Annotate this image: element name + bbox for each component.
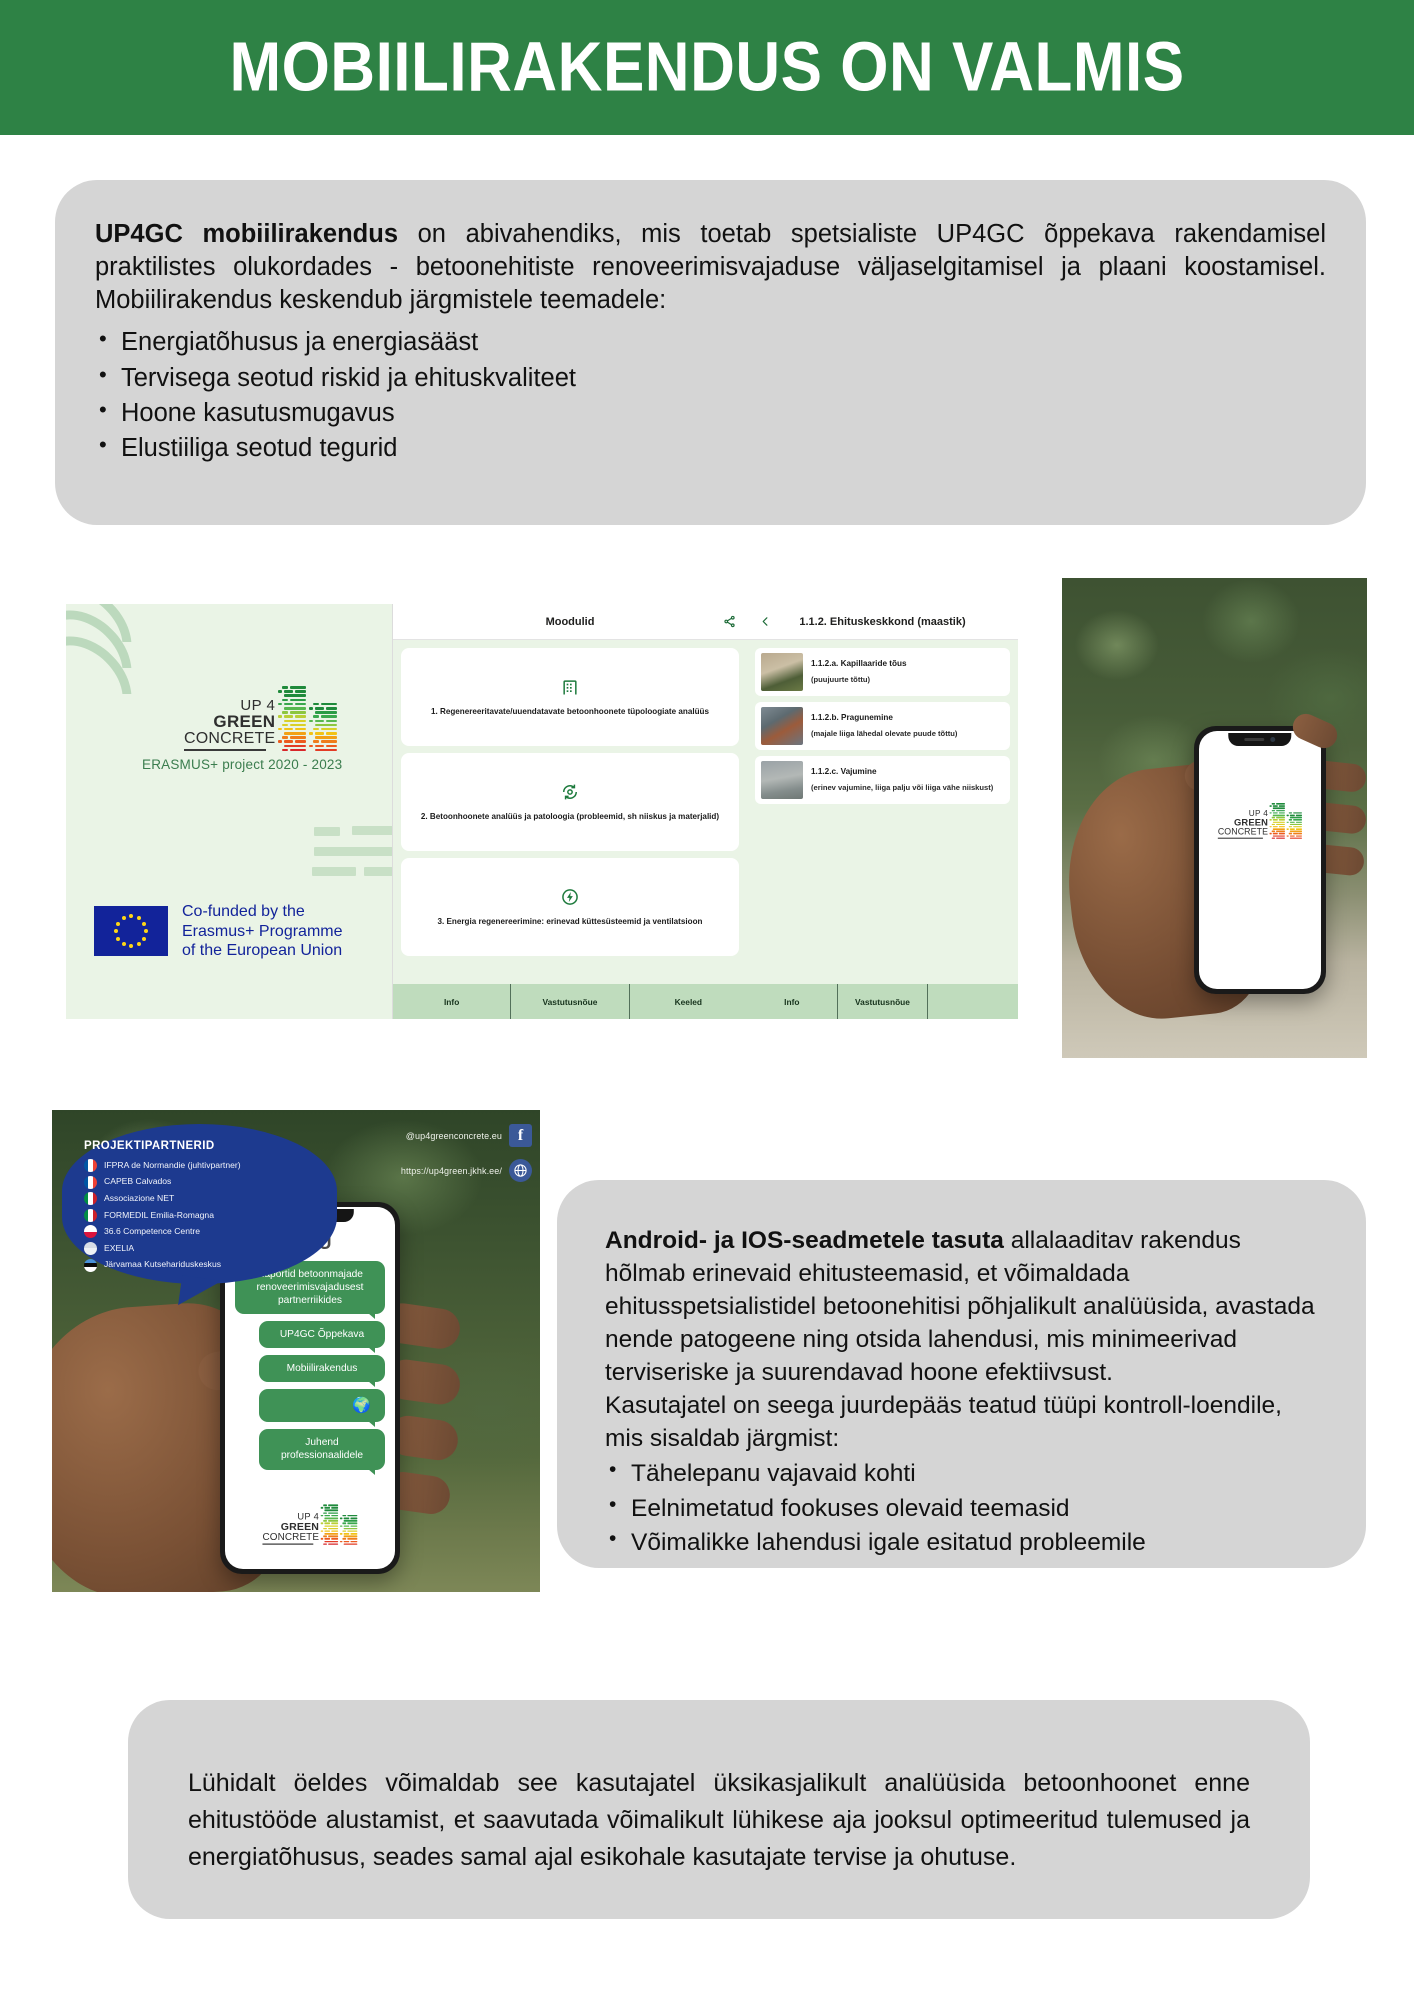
page-header: MOBIILIRAKENDUS ON VALMIS: [0, 0, 1414, 135]
share-icon[interactable]: [721, 615, 737, 628]
intro-panel: UP4GC mobiilirakendus on abivahendiks, m…: [55, 180, 1366, 525]
eu-flag-icon: [94, 906, 168, 956]
photo-phone-menu-and-partners: SISU Raportid betoonmajade renoveerimisv…: [52, 1110, 540, 1592]
poster-page: MOBIILIRAKENDUS ON VALMIS UP4GC mobiilir…: [0, 0, 1414, 2000]
website-row[interactable]: https://up4green.jkhk.ee/: [401, 1159, 532, 1182]
list-item: Tähelepanu vajavaid kohti: [605, 1457, 1318, 1491]
summary-panel: Lühidalt öeldes võimaldab see kasutajate…: [128, 1700, 1310, 1919]
energy-bolt-icon: [560, 887, 580, 912]
eu-cofunding-block: Co-funded by the Erasmus+ Programme of t…: [94, 902, 343, 961]
logo-underline: [1218, 838, 1263, 839]
list-item-title: 1.1.2.b. Pragunemine: [811, 713, 1002, 724]
module-card[interactable]: 2. Betoonhoonete analüüs ja patoloogia (…: [401, 753, 739, 851]
thumbnail-image: [761, 707, 803, 745]
android-lead-bold: Android- ja IOS-seadmetele tasuta: [605, 1227, 1004, 1254]
up4gc-logo: UP 4 GREEN CONCRETE: [262, 1504, 357, 1545]
phone-notch: [1228, 733, 1291, 746]
android-ios-panel: Android- ja IOS-seadmetele tasuta allala…: [557, 1180, 1366, 1568]
logo-bars-icon: [278, 686, 337, 751]
list-item: 36.6 Competence Centre: [84, 1225, 319, 1238]
app-tab-bar: Info Vastutusnõue: [747, 984, 1018, 1019]
list-item: Associazione NET: [84, 1192, 319, 1205]
module-card[interactable]: 1. Regenereeritavate/uuendatavate betoon…: [401, 648, 739, 746]
cofund-line-3: of the European Union: [182, 941, 343, 961]
android-paragraph-2: Kasutajatel on seega juurdepääs teatud t…: [605, 1389, 1318, 1455]
globe-icon[interactable]: [509, 1159, 532, 1182]
list-item-subtitle: (puujuurte tõttu): [811, 675, 1002, 685]
logo-line-2: GREEN: [262, 1521, 319, 1532]
placeholder-bar: [314, 827, 340, 836]
app-tab-bar: Info Vastutusnõue Keeled: [393, 984, 747, 1019]
erasmus-project-line: ERASMUS+ project 2020 - 2023: [142, 757, 342, 772]
app-bar: Moodulid: [393, 604, 747, 640]
flag-fr-icon: [84, 1159, 97, 1172]
facebook-row[interactable]: @up4greenconcrete.eu f: [401, 1124, 532, 1147]
thumbnail-image: [761, 653, 803, 691]
list-item: Energiatõhusus ja energiasääst: [95, 325, 1326, 360]
menu-button-guide[interactable]: Juhend professionaalidele: [259, 1429, 385, 1469]
list-item: EXELIA: [84, 1242, 319, 1255]
app-bar: 1.1.2. Ehituskeskkond (maastik): [747, 604, 1018, 640]
summary-text: Lühidalt öeldes võimaldab see kasutajate…: [188, 1765, 1250, 1876]
tab-info[interactable]: Info: [747, 984, 838, 1019]
photo-hand-holding-phone: UP 4 GREEN CONCRETE: [1062, 578, 1367, 1058]
list-item: Võimalikke lahendusi igale esitatud prob…: [605, 1526, 1318, 1560]
cofunding-text: Co-funded by the Erasmus+ Programme of t…: [182, 902, 343, 961]
flag-it-icon: [84, 1192, 97, 1205]
list-item-title: 1.1.2.a. Kapillaaride tõus: [811, 659, 1002, 670]
tab-keeled[interactable]: Keeled: [630, 984, 747, 1019]
flag-it-icon: [84, 1209, 97, 1222]
logo-line-1: UP 4: [184, 698, 275, 713]
list-item: Tervisega seotud riskid ja ehituskvalite…: [95, 361, 1326, 396]
logo-line-3: CONCRETE: [1218, 828, 1268, 837]
chevron-left-icon[interactable]: [757, 615, 773, 628]
module-card-label: 1. Regenereeritavate/uuendatavate betoon…: [431, 707, 709, 717]
intro-paragraph: UP4GC mobiilirakendus on abivahendiks, m…: [95, 218, 1326, 317]
tab-info[interactable]: Info: [393, 984, 511, 1019]
logo-underline: [262, 1543, 313, 1545]
app-screen-detail: 1.1.2. Ehituskeskkond (maastik) 1.1.2.a.…: [747, 604, 1018, 1019]
partners-title: PROJEKTIPARTNERID: [84, 1140, 319, 1152]
list-item[interactable]: 1.1.2.c. Vajumine (erinev vajumine, liig…: [755, 756, 1010, 804]
social-links: @up4greenconcrete.eu f https://up4green.…: [401, 1124, 532, 1194]
module-card-label: 2. Betoonhoonete analüüs ja patoloogia (…: [421, 812, 719, 822]
logo-underline: [184, 749, 266, 752]
list-item: IFPRA de Normandie (juhtivpartner): [84, 1159, 319, 1172]
list-item: Eelnimetatud fookuses olevaid teemasid: [605, 1492, 1318, 1526]
tab-cut-off[interactable]: [928, 984, 1018, 1019]
tab-vastutusnoue[interactable]: Vastutusnõue: [838, 984, 929, 1019]
app-screenshot-composite: UP 4 GREEN CONCRETE ERASMUS+ project 202…: [66, 604, 1018, 1019]
up4gc-logo: UP 4 GREEN CONCRETE: [184, 686, 380, 751]
building-icon: [560, 677, 580, 702]
flag-fr-icon: [84, 1176, 97, 1189]
list-item-subtitle: (erinev vajumine, liiga palju või liiga …: [811, 783, 1002, 793]
menu-button-mobile-app[interactable]: Mobiilirakendus: [259, 1355, 385, 1382]
social-handle: @up4greenconcrete.eu: [406, 1131, 502, 1141]
app-screen-body: 1. Regenereeritavate/uuendatavate betoon…: [393, 640, 747, 1019]
phone-device: UP 4 GREEN CONCRETE: [1194, 726, 1326, 994]
phone-screen: UP 4 GREEN CONCRETE: [1199, 731, 1321, 989]
android-paragraph-1: Android- ja IOS-seadmetele tasuta allala…: [605, 1224, 1318, 1389]
partners-speech-bubble: PROJEKTIPARTNERID IFPRA de Normandie (ju…: [62, 1124, 337, 1284]
menu-button-curriculum[interactable]: UP4GC Õppekava: [259, 1321, 385, 1348]
list-item: Hoone kasutusmugavus: [95, 396, 1326, 431]
list-item-subtitle: (majale liiga lähedal olevate puude tõtt…: [811, 729, 1002, 739]
logo-line-3: CONCRETE: [262, 1532, 319, 1542]
logo-bars-icon: [321, 1504, 358, 1545]
android-bullet-list: Tähelepanu vajavaid kohti Eelnimetatud f…: [605, 1457, 1318, 1560]
list-item: Järvamaa Kutsehariduskeskus: [84, 1259, 319, 1272]
logo-line-1: UP 4: [262, 1511, 319, 1520]
tab-vastutusnoue[interactable]: Vastutusnõue: [511, 984, 629, 1019]
placeholder-bar: [312, 867, 356, 876]
list-item: FORMEDIL Emilia-Romagna: [84, 1209, 319, 1222]
list-item[interactable]: 1.1.2.b. Pragunemine (majale liiga lähed…: [755, 702, 1010, 750]
list-item-title: 1.1.2.c. Vajumine: [811, 767, 1002, 778]
app-bar-title: Moodulid: [419, 616, 721, 628]
list-item: CAPEB Calvados: [84, 1176, 319, 1189]
logo-bars-icon: [1270, 803, 1302, 839]
recycle-gear-icon: [560, 782, 580, 807]
app-bar-title: 1.1.2. Ehituskeskkond (maastik): [773, 616, 992, 628]
intro-bullet-list: Energiatõhusus ja energiasääst Tervisega…: [95, 325, 1326, 466]
list-item: Elustiiliga seotud tegurid: [95, 431, 1326, 466]
up4gc-splash-logo: UP 4 GREEN CONCRETE: [1218, 803, 1302, 839]
logo-line-3: CONCRETE: [184, 731, 275, 747]
list-item[interactable]: 1.1.2.a. Kapillaaride tõus (puujuurte tõ…: [755, 648, 1010, 696]
flag-pl-icon: [84, 1225, 97, 1238]
app-screen-modules: Moodulid: [392, 604, 747, 1019]
cofund-line-1: Co-funded by the: [182, 902, 343, 922]
flag-ee-icon: [84, 1259, 97, 1272]
facebook-icon[interactable]: f: [509, 1124, 532, 1147]
cofund-line-2: Erasmus+ Programme: [182, 922, 343, 942]
website-url: https://up4green.jkhk.ee/: [401, 1166, 502, 1176]
menu-button-earth-icon[interactable]: 🌍: [259, 1389, 385, 1422]
intro-lead-bold: UP4GC mobiilirakendus: [95, 220, 398, 248]
page-title: MOBIILIRAKENDUS ON VALMIS: [229, 33, 1184, 102]
thumbnail-image: [761, 761, 803, 799]
logo-line-2: GREEN: [184, 713, 275, 730]
module-card[interactable]: 3. Energia regenereerimine: erinevad küt…: [401, 858, 739, 956]
app-screen-body: 1.1.2.a. Kapillaaride tõus (puujuurte tõ…: [747, 640, 1018, 1019]
flag-gr-icon: [84, 1242, 97, 1255]
module-card-label: 3. Energia regenereerimine: erinevad küt…: [438, 917, 703, 927]
